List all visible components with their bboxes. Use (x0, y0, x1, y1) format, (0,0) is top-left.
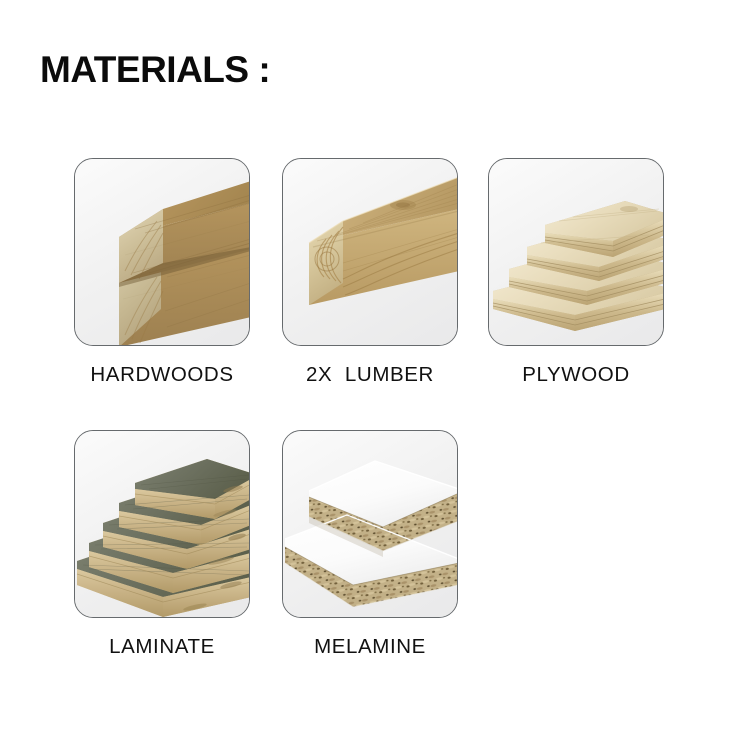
material-label-2x-lumber: 2X LUMBER (266, 363, 474, 387)
material-card-plywood[interactable] (488, 158, 664, 346)
material-label-melamine: MELAMINE (266, 635, 474, 659)
melamine-particleboard-panel-photo (283, 431, 457, 617)
material-item-melamine[interactable]: MELAMINE (266, 430, 474, 659)
material-item-laminate[interactable]: LAMINATE (58, 430, 266, 659)
material-item-plywood[interactable]: PLYWOOD (472, 158, 680, 387)
hardwood-illustration (75, 159, 250, 346)
material-label-plywood: PLYWOOD (472, 363, 680, 387)
material-label-laminate: LAMINATE (58, 635, 266, 659)
hardwood-timber-blocks-photo (75, 159, 249, 345)
material-card-2x-lumber[interactable] (282, 158, 458, 346)
lumber-illustration (283, 159, 458, 346)
plywood-sheet-stack-photo (489, 159, 663, 345)
laminate-panel-stack-photo (75, 431, 249, 617)
materials-grid: HARDWOODS (0, 0, 750, 750)
material-item-hardwoods[interactable]: HARDWOODS (58, 158, 266, 387)
material-card-laminate[interactable] (74, 430, 250, 618)
material-card-melamine[interactable] (282, 430, 458, 618)
material-label-hardwoods: HARDWOODS (58, 363, 266, 387)
plywood-illustration (489, 159, 664, 346)
material-card-hardwoods[interactable] (74, 158, 250, 346)
materials-page: MATERIALS : (0, 0, 750, 750)
laminate-illustration (75, 431, 250, 618)
melamine-illustration (283, 431, 458, 618)
2x-lumber-board-photo (283, 159, 457, 345)
material-item-2x-lumber[interactable]: 2X LUMBER (266, 158, 474, 387)
